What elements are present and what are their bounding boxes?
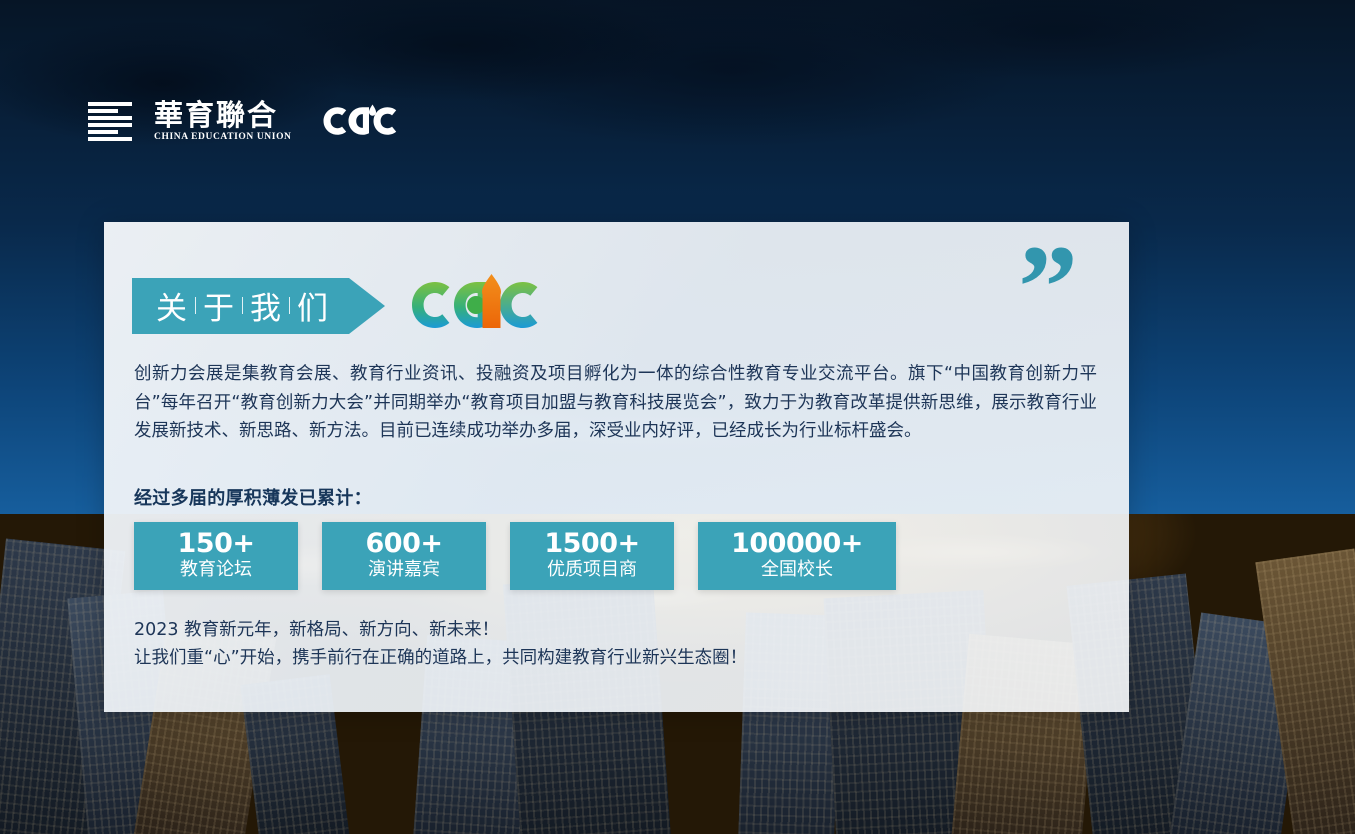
- char-separator-icon: [242, 297, 243, 314]
- brand-logo-bar: 華育聯合 CHINA EDUCATION UNION: [88, 100, 402, 142]
- stat-number: 600+: [366, 530, 443, 558]
- section-tag-char-3: 我: [250, 283, 282, 328]
- stat-number: 150+: [178, 530, 255, 558]
- china-education-union-mark-icon: [88, 102, 132, 141]
- stat-label: 教育论坛: [180, 559, 252, 582]
- section-tag-label: 关 于 我 们: [156, 283, 329, 328]
- stat-number: 100000+: [731, 530, 863, 558]
- cdc-logo-white-icon: [320, 104, 402, 138]
- closing-line-2: 让我们重“心”开始，携手前行在正确的道路上，共同构建教育行业新兴生态圈！: [134, 644, 747, 672]
- brand-name-en: CHINA EDUCATION UNION: [154, 132, 292, 142]
- stat-card: 1500+ 优质项目商: [510, 522, 674, 590]
- stat-label: 优质项目商: [547, 559, 637, 582]
- quote-mark-icon: ”: [1018, 244, 1074, 330]
- section-tag-char-2: 于: [203, 283, 235, 328]
- char-separator-icon: [289, 297, 290, 314]
- stats-heading: 经过多届的厚积薄发已累计：: [134, 484, 372, 510]
- about-paragraph: 创新力会展是集教育会展、教育行业资讯、投融资及项目孵化为一体的综合性教育专业交流…: [134, 360, 1097, 446]
- section-tag-banner: 关 于 我 们: [132, 278, 349, 334]
- char-separator-icon: [195, 297, 196, 314]
- section-tag-char-4: 们: [297, 283, 329, 328]
- brand-name-cn: 華育聯合: [154, 100, 292, 130]
- closing-text: 2023 教育新元年，新格局、新方向、新未来！ 让我们重“心”开始，携手前行在正…: [134, 616, 747, 672]
- stat-card: 600+ 演讲嘉宾: [322, 522, 486, 590]
- stat-card: 100000+ 全国校长: [698, 522, 896, 590]
- stats-row: 150+ 教育论坛 600+ 演讲嘉宾 1500+ 优质项目商 100000+ …: [134, 522, 896, 590]
- section-header: 关 于 我 们: [132, 272, 555, 339]
- brand-name-block: 華育聯合 CHINA EDUCATION UNION: [154, 100, 292, 142]
- section-tag-char-1: 关: [156, 283, 188, 328]
- closing-line-1: 2023 教育新元年，新格局、新方向、新未来！: [134, 616, 747, 644]
- cdc-logo-color-icon: [405, 272, 555, 339]
- stat-label: 演讲嘉宾: [368, 559, 440, 582]
- stat-label: 全国校长: [761, 559, 833, 582]
- stat-number: 1500+: [544, 530, 639, 558]
- about-us-card: ” 关 于 我 们: [104, 222, 1129, 712]
- stat-card: 150+ 教育论坛: [134, 522, 298, 590]
